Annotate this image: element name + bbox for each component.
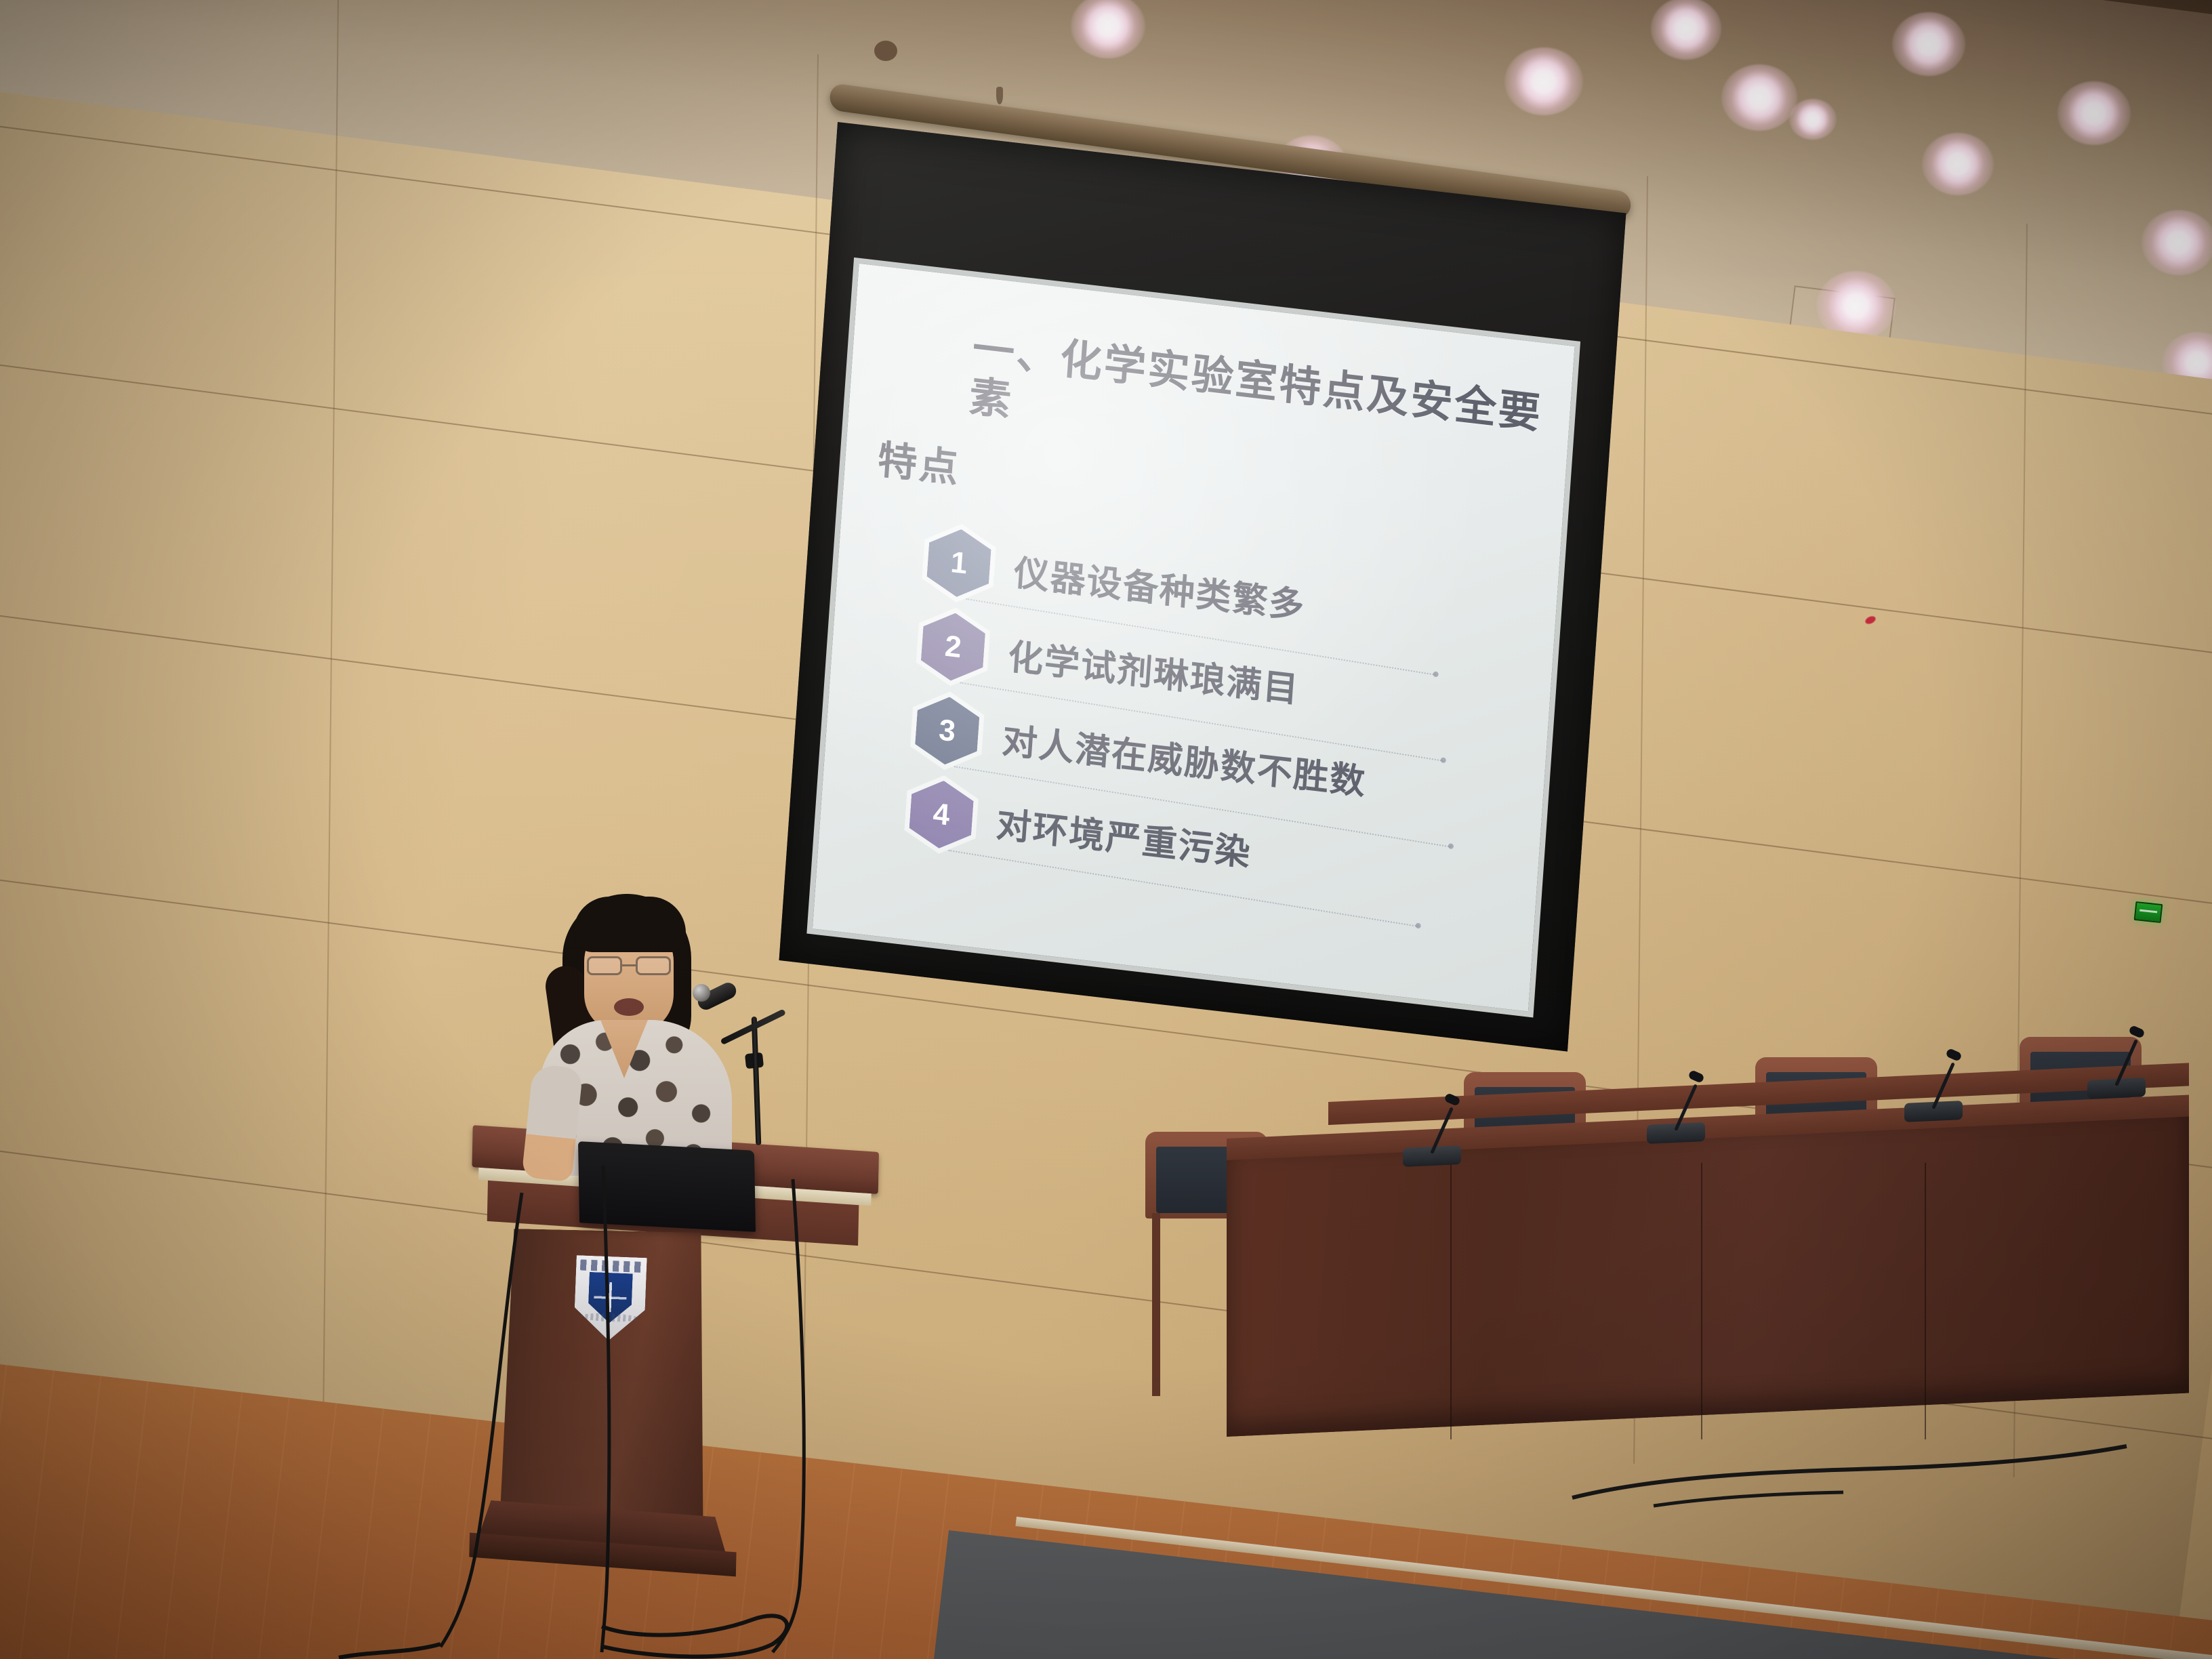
bullet-number: 3: [938, 713, 957, 749]
projection-screen-assembly: 一、化学实验室特点及安全要素 特点 1 仪器设备种类繁多: [779, 122, 1626, 1052]
bullet-badge-3: 3: [914, 693, 981, 768]
table-panel-seam: [1450, 1163, 1452, 1439]
projection-surface: 一、化学实验室特点及安全要素 特点 1 仪器设备种类繁多: [806, 258, 1580, 1018]
microphone-capsule-icon: [693, 984, 710, 1002]
auditorium-scene: 一、化学实验室特点及安全要素 特点 1 仪器设备种类繁多: [0, 0, 2212, 1659]
bullet-badge-1: 1: [926, 526, 992, 600]
bullet-badge-4: 4: [908, 777, 975, 852]
glasses-lens-left: [587, 956, 622, 975]
glasses-lens-right: [636, 956, 671, 975]
presenter: [522, 884, 745, 1169]
bullet-number: 4: [932, 797, 951, 833]
table-front-panel: [1227, 1117, 2189, 1437]
ceiling-fixture-hole: [874, 41, 897, 61]
presenter-fringe: [573, 897, 686, 952]
cable-run: [1572, 1396, 2128, 1532]
slide-content: 一、化学实验室特点及安全要素 特点 1 仪器设备种类繁多: [813, 264, 1575, 1012]
bullet-number: 2: [943, 629, 962, 665]
bullet-text: 化学试剂琳琅满目: [1006, 628, 1301, 713]
emergency-exit-sign: [2134, 901, 2163, 923]
chair-leg: [1152, 1213, 1160, 1396]
slide-bullet-list: 1 仪器设备种类繁多 2 化学试剂琳琅满目: [907, 518, 1531, 922]
cable-run: [434, 1152, 908, 1654]
glasses-bridge: [622, 964, 636, 966]
glasses-icon: [587, 956, 671, 977]
sprinkler-head-icon: [996, 87, 1003, 104]
bullet-badge-2: 2: [920, 609, 986, 684]
presenter-mouth: [614, 998, 644, 1016]
bullet-number: 1: [949, 545, 968, 581]
bullet-text: 仪器设备种类繁多: [1012, 544, 1307, 629]
